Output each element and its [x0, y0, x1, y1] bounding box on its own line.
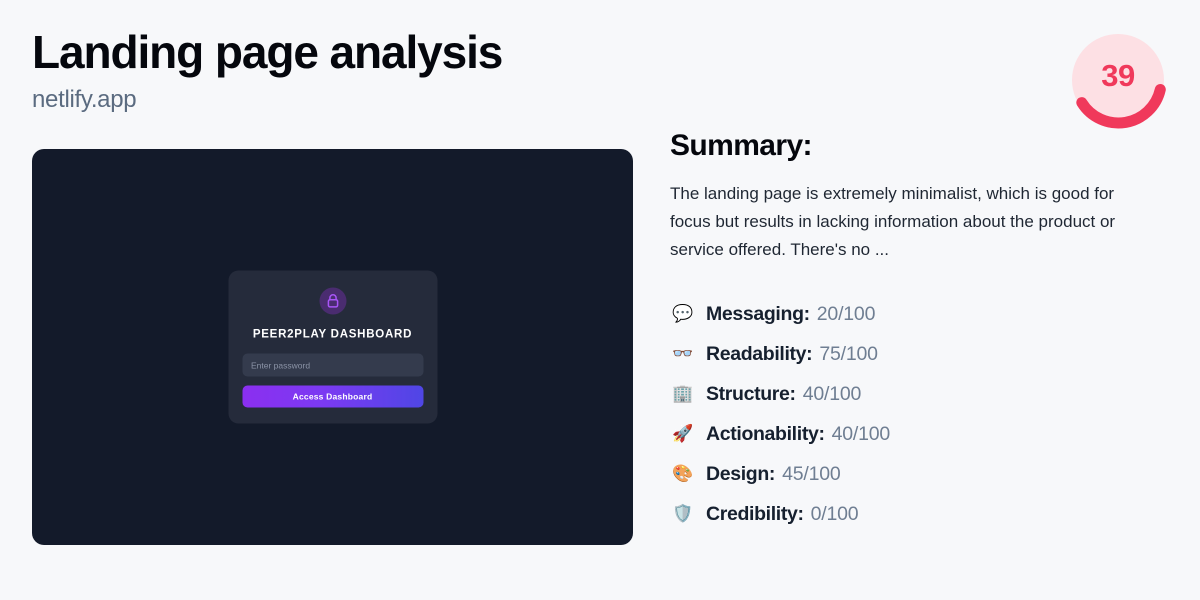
page-screenshot-preview: PEER2PLAY DASHBOARD Access Dashboard	[32, 149, 633, 545]
metric-score-list: 💬Messaging:20/100👓Readability:75/100🏢Str…	[672, 294, 1172, 534]
metric-label: Structure:	[706, 383, 796, 406]
report-header: Landing page analysis netlify.app	[32, 28, 652, 113]
analysis-report-page: Landing page analysis netlify.app 39 PEE…	[0, 0, 1200, 600]
overall-score-badge: 39	[1064, 26, 1172, 134]
shield-icon: 🛡️	[672, 506, 706, 523]
metric-label: Design:	[706, 463, 775, 486]
metric-label: Messaging:	[706, 303, 810, 326]
metric-score: 40/100	[832, 423, 890, 446]
metric-row: 👓Readability:75/100	[672, 334, 1172, 374]
rocket-icon: 🚀	[672, 426, 706, 443]
metric-score: 75/100	[819, 343, 877, 366]
office-building-icon: 🏢	[672, 386, 706, 403]
metric-row: 🛡️Credibility:0/100	[672, 494, 1172, 534]
score-value: 39	[1064, 26, 1172, 134]
access-dashboard-button[interactable]: Access Dashboard	[242, 386, 423, 408]
speech-balloon-icon: 💬	[672, 306, 706, 323]
metric-row: 💬Messaging:20/100	[672, 294, 1172, 334]
metric-label: Credibility:	[706, 503, 804, 526]
summary-section: Summary: The landing page is extremely m…	[670, 128, 1170, 264]
padlock-glyph	[326, 294, 339, 309]
metric-label: Actionability:	[706, 423, 825, 446]
login-panel-title: PEER2PLAY DASHBOARD	[242, 329, 423, 341]
metric-score: 40/100	[803, 383, 861, 406]
login-panel: PEER2PLAY DASHBOARD Access Dashboard	[228, 271, 437, 424]
metric-score: 45/100	[782, 463, 840, 486]
metric-row: 🎨Design:45/100	[672, 454, 1172, 494]
metric-score: 20/100	[817, 303, 875, 326]
password-input[interactable]	[242, 354, 423, 377]
site-domain-subtitle: netlify.app	[32, 87, 652, 113]
page-title: Landing page analysis	[32, 28, 652, 78]
artist-palette-icon: 🎨	[672, 466, 706, 483]
glasses-icon: 👓	[672, 346, 706, 363]
summary-heading: Summary:	[670, 128, 1170, 164]
metric-row: 🏢Structure:40/100	[672, 374, 1172, 414]
metric-label: Readability:	[706, 343, 812, 366]
summary-text: The landing page is extremely minimalist…	[670, 180, 1152, 264]
metric-score: 0/100	[811, 503, 859, 526]
metric-row: 🚀Actionability:40/100	[672, 414, 1172, 454]
lock-icon	[319, 288, 346, 315]
